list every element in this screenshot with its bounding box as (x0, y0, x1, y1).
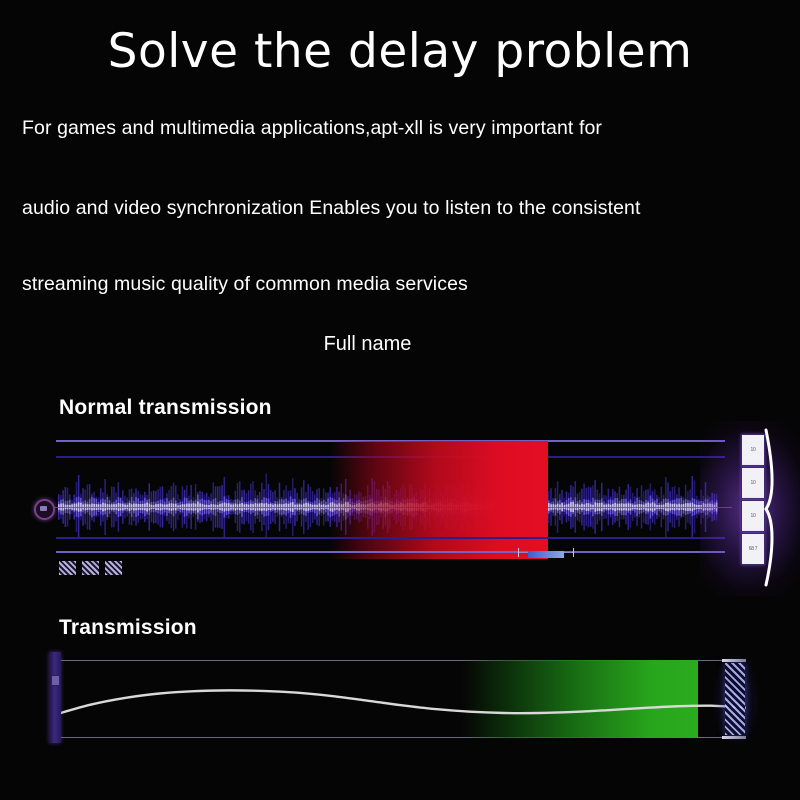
sine-endcap-bottom (722, 736, 746, 739)
body-paragraph-line-1: For games and multimedia applications,ap… (22, 117, 782, 140)
page-title: Solve the delay problem (0, 24, 800, 79)
full-name-label: Full name (0, 333, 735, 356)
waveform-panel: 10 10 10 68 7 (0, 425, 800, 590)
waveform-center-axis (42, 507, 732, 508)
body-paragraph-line-3: streaming music quality of common media … (22, 273, 782, 296)
sine-curve-svg (56, 653, 746, 748)
panel-label-normal-transmission: Normal transmission (59, 396, 272, 420)
waveform-svg (58, 458, 718, 538)
sine-handle-grip-icon (51, 675, 60, 686)
hatch-block (105, 561, 122, 575)
sine-endcap-top (722, 659, 746, 662)
waveform-bottom-outer-rule (56, 551, 725, 553)
sine-left-handle[interactable] (49, 652, 61, 743)
curved-divider-icon (752, 425, 782, 590)
sine-right-hatch-block (725, 663, 745, 735)
playhead-marker-icon[interactable] (34, 499, 55, 520)
waveform-graphic (58, 458, 718, 538)
selection-measure-marker (512, 547, 582, 563)
measure-chip-label (528, 551, 564, 558)
sine-panel (0, 645, 800, 760)
measure-tick-right (573, 548, 574, 557)
panel-label-transmission: Transmission (59, 616, 197, 640)
sine-curve-graphic (56, 653, 746, 748)
hatch-block (82, 561, 99, 575)
waveform-bottom-inner-rule (56, 537, 725, 539)
body-paragraph-line-2: audio and video synchronization Enables … (22, 197, 782, 220)
hatch-block (59, 561, 76, 575)
waveform-top-outer-rule (56, 440, 725, 442)
app-canvas: Solve the delay problem For games and mu… (0, 0, 800, 800)
measure-tick-left (518, 548, 519, 557)
